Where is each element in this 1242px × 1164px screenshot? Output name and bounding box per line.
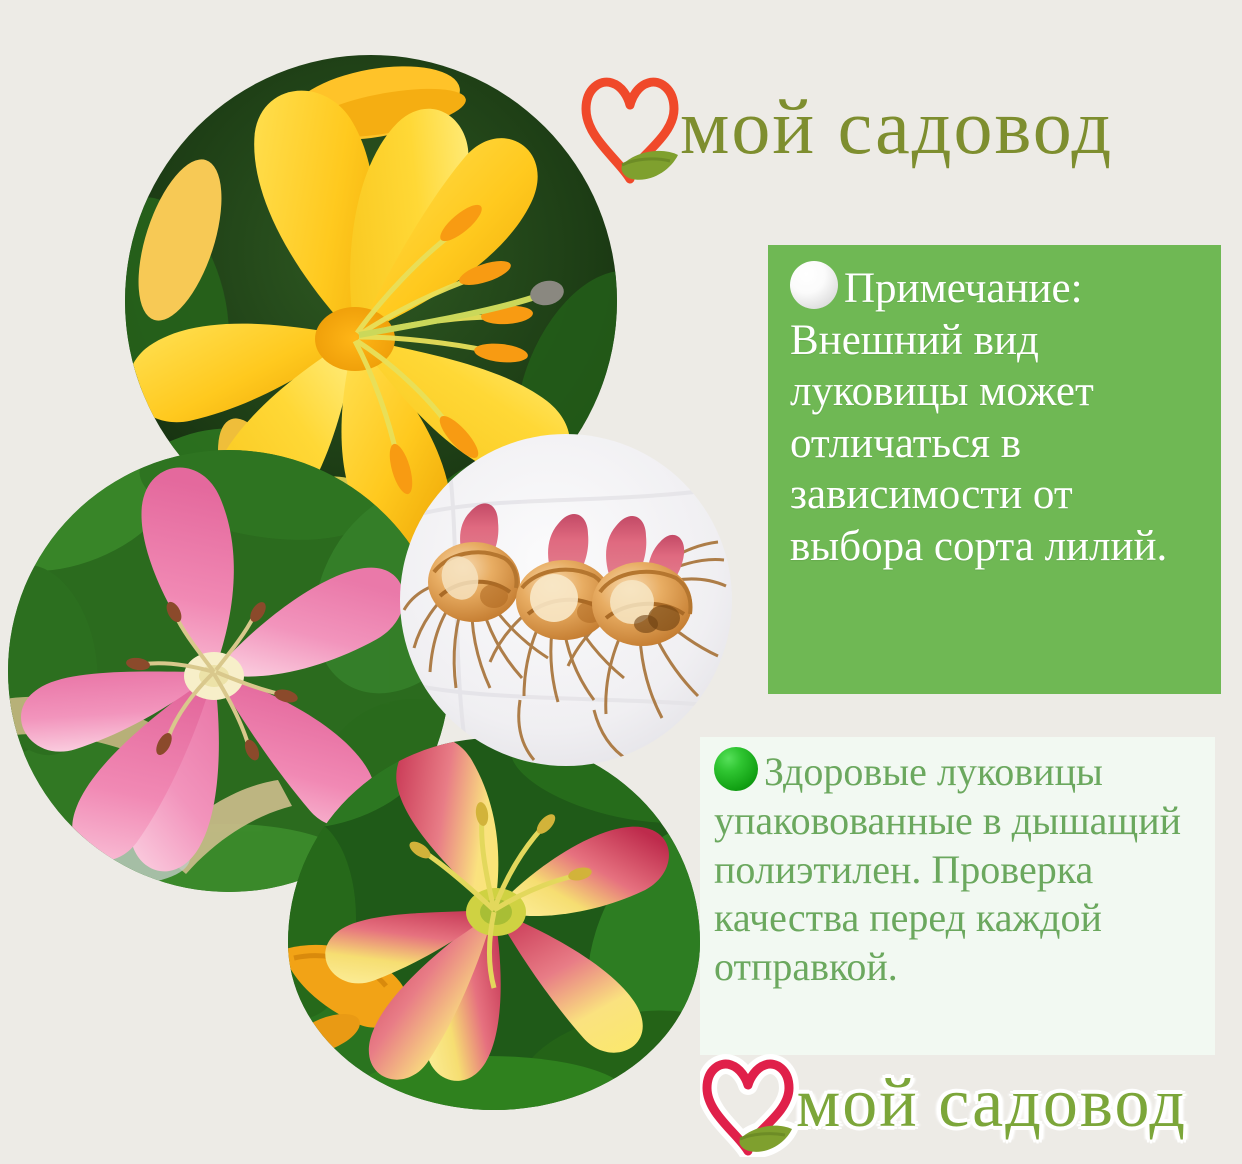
- note-full-text: Примечание: Внешний вид луковицы может о…: [790, 265, 1167, 570]
- quality-text: Здоровые луковицы упаковованные в дышащи…: [714, 747, 1207, 992]
- brand-logo-header: мой садовод: [578, 62, 1228, 192]
- poster-canvas: мой садовод Примечание: Внешний вид луко…: [0, 0, 1242, 1164]
- note-text: Примечание: Внешний вид луковицы может о…: [790, 261, 1203, 573]
- brand-logo-watermark: мой садовод: [700, 1048, 1230, 1160]
- green-sphere-bullet-icon: [714, 747, 758, 791]
- leaf-icon: [621, 151, 678, 180]
- white-sphere-bullet-icon: [790, 261, 838, 309]
- quality-full-text: Здоровые луковицы упаковованные в дышащи…: [714, 749, 1181, 989]
- brand-wordmark-header: мой садовод: [680, 88, 1113, 166]
- photo-lily-bulbs: [400, 434, 732, 766]
- brand-mark-watermark: [700, 1051, 800, 1157]
- brand-wordmark-watermark: мой садовод: [796, 1069, 1187, 1139]
- quality-box: Здоровые луковицы упаковованные в дышащи…: [700, 737, 1215, 1055]
- note-box: Примечание: Внешний вид луковицы может о…: [768, 245, 1221, 694]
- brand-mark-header: [578, 67, 686, 187]
